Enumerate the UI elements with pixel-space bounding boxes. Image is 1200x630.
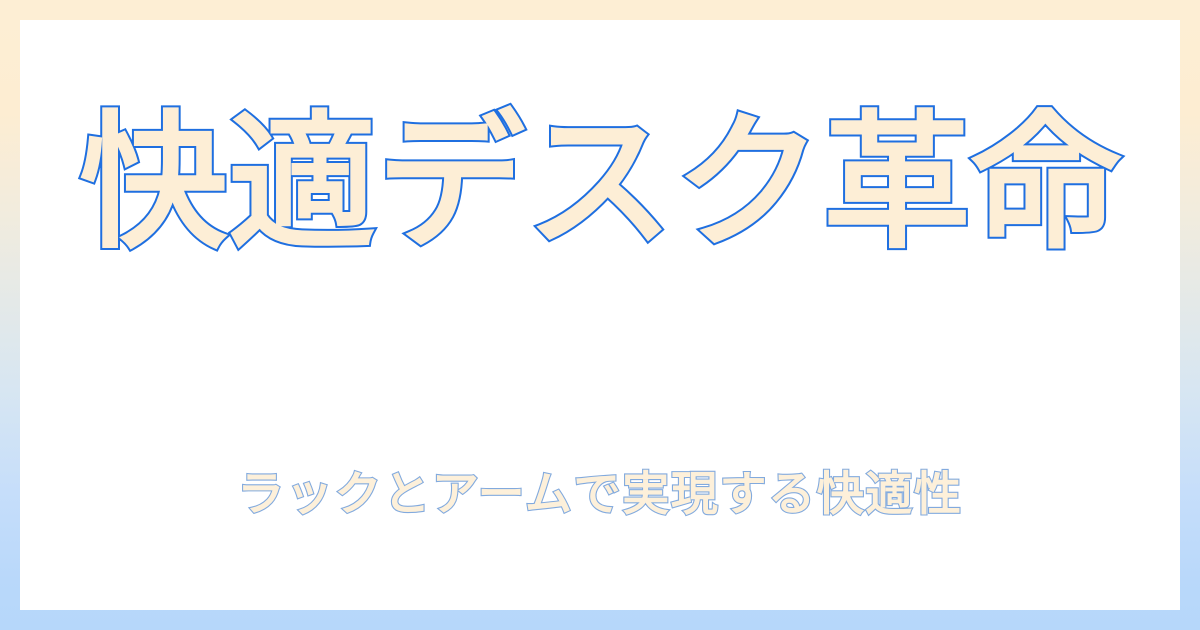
page-subtitle: ラックとアームで実現する快適性 [237,469,962,522]
headline-container: 快適デスク革命 [20,20,1180,360]
content-panel: 快適デスク革命 ラックとアームで実現する快適性 [20,20,1180,610]
subheadline-container: ラックとアームで実現する快適性 [20,422,1180,569]
gradient-frame: 快適デスク革命 ラックとアームで実現する快適性 [0,0,1200,630]
page-title: 快適デスク革命 [79,107,1120,261]
